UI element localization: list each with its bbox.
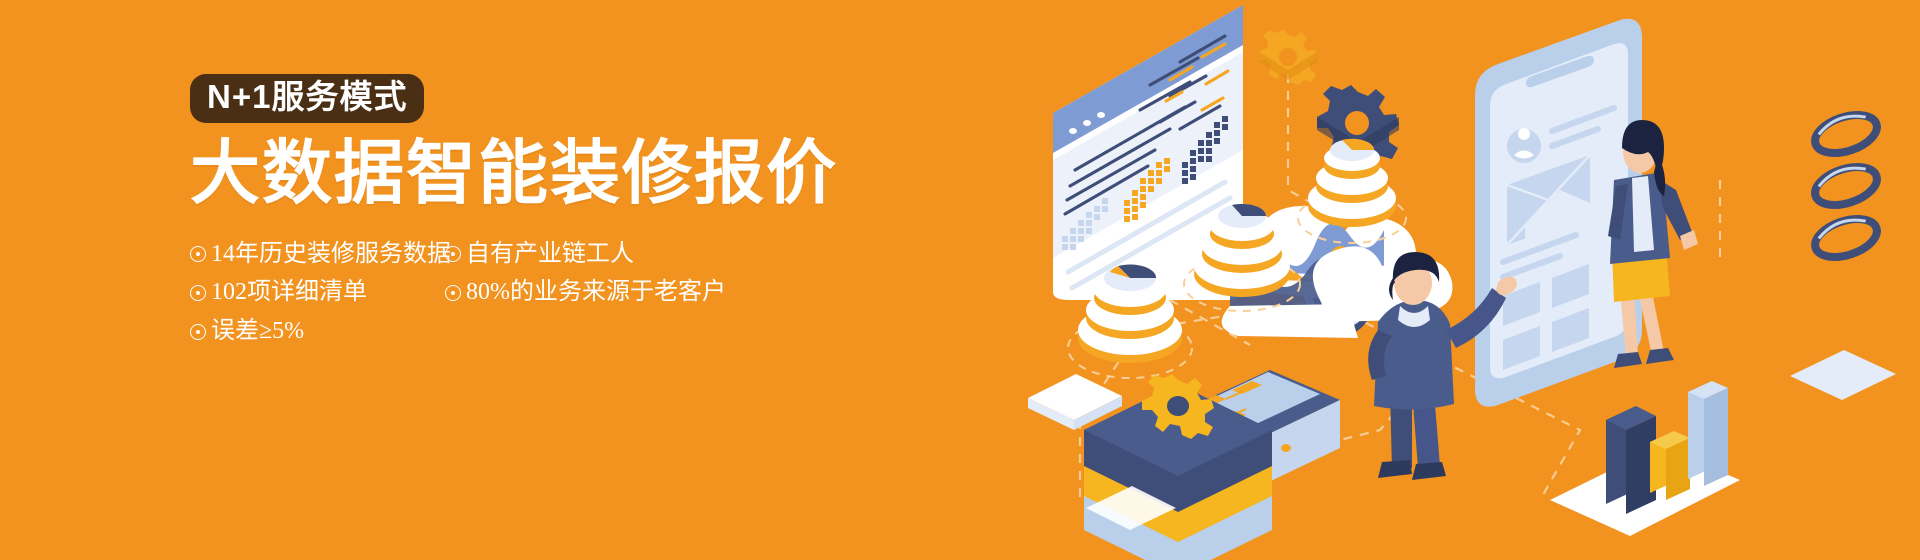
- list-item: 102项详细清单: [190, 273, 445, 312]
- marketing-banner: N+1服务模式 大数据智能装修报价 14年历史装修服务数据 102项详细清单 误…: [0, 0, 1920, 560]
- isometric-illustration: [1020, 0, 1920, 560]
- list-item-label: 自有产业链工人: [466, 235, 634, 274]
- list-item: 自有产业链工人: [445, 235, 726, 274]
- text-content-block: N+1服务模式 大数据智能装修报价 14年历史装修服务数据 102项详细清单 误…: [190, 74, 910, 351]
- bullet-dot-icon: [190, 246, 206, 262]
- bullet-dot-icon: [190, 324, 206, 340]
- bullet-column-left: 14年历史装修服务数据 102项详细清单 误差≥5%: [190, 235, 445, 352]
- list-item-label: 误差≥5%: [211, 312, 304, 351]
- list-item: 80%的业务来源于老客户: [445, 273, 726, 312]
- list-item-label: 80%的业务来源于老客户: [466, 273, 726, 312]
- bullet-column-right: 自有产业链工人 80%的业务来源于老客户: [445, 235, 726, 313]
- service-mode-badge: N+1服务模式: [190, 74, 424, 123]
- list-item: 误差≥5%: [190, 312, 445, 351]
- list-item-label: 102项详细清单: [211, 273, 367, 312]
- page-title: 大数据智能装修报价: [190, 136, 910, 211]
- feature-bullet-list: 14年历史装修服务数据 102项详细清单 误差≥5% 自有产业链工人: [190, 235, 910, 352]
- bullet-dot-icon: [190, 285, 206, 301]
- bullet-dot-icon: [445, 285, 461, 301]
- bar-chart-3d: [1550, 381, 1740, 536]
- bullet-dot-icon: [445, 246, 461, 262]
- list-item-label: 14年历史装修服务数据: [211, 235, 451, 274]
- list-item: 14年历史装修服务数据: [190, 235, 445, 274]
